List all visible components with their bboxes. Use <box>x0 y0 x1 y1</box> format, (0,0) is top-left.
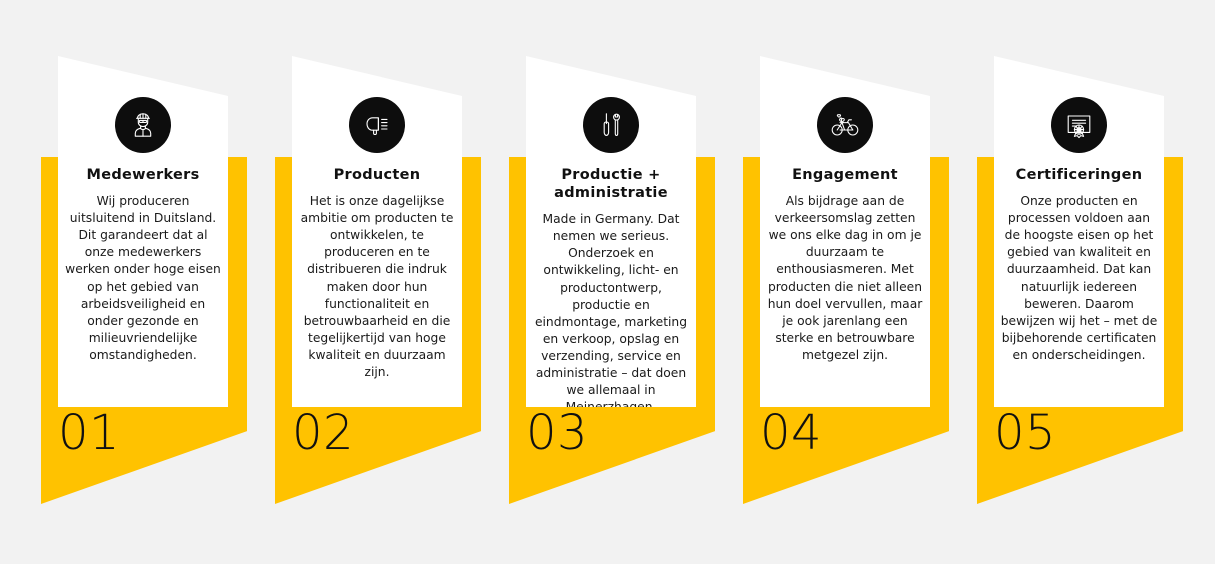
card-body: Onze producten en processen voldoen aan … <box>1000 193 1158 364</box>
bicycle-hearts-icon <box>817 97 873 153</box>
card-index: 03 <box>526 409 588 457</box>
value-card-04[interactable]: Engagement Als bijdrage aan de verkeerso… <box>742 0 976 564</box>
card-title: Medewerkers <box>64 166 222 184</box>
card-title: Engagement <box>766 166 924 184</box>
card-index: 05 <box>994 409 1056 457</box>
value-card-01[interactable]: Medewerkers Wij produceren uitsluitend i… <box>40 0 274 564</box>
tools-screwdriver-wrench-icon <box>583 97 639 153</box>
card-body: Het is onze dagelijkse ambitie om produc… <box>298 193 456 381</box>
card-title: Producten <box>298 166 456 184</box>
card-index: 01 <box>58 409 120 457</box>
value-card-02[interactable]: Producten Het is onze dagelijkse ambitie… <box>274 0 508 564</box>
value-cards-section: Medewerkers Wij produceren uitsluitend i… <box>0 0 1215 564</box>
card-panel: Producten Het is onze dagelijkse ambitie… <box>292 56 462 407</box>
value-card-05[interactable]: Certificeringen Onze producten en proces… <box>976 0 1210 564</box>
card-body: Wij produceren uitsluitend in Duitsland.… <box>64 193 222 364</box>
card-panel: Certificeringen Onze producten en proces… <box>994 56 1164 407</box>
certificate-seal-icon <box>1051 97 1107 153</box>
bike-lamp-icon <box>349 97 405 153</box>
worker-helmet-icon <box>115 97 171 153</box>
card-panel: Productie + administratie Made in German… <box>526 56 696 407</box>
card-index: 02 <box>292 409 354 457</box>
card-body: Made in Germany. Dat nemen we serieus. O… <box>532 211 690 416</box>
value-card-03[interactable]: Productie + administratie Made in German… <box>508 0 742 564</box>
card-panel: Engagement Als bijdrage aan de verkeerso… <box>760 56 930 407</box>
card-index: 04 <box>760 409 822 457</box>
card-panel: Medewerkers Wij produceren uitsluitend i… <box>58 56 228 407</box>
card-body: Als bijdrage aan de verkeersomslag zette… <box>766 193 924 364</box>
card-title: Certificeringen <box>1000 166 1158 184</box>
card-title: Productie + administratie <box>532 166 690 202</box>
